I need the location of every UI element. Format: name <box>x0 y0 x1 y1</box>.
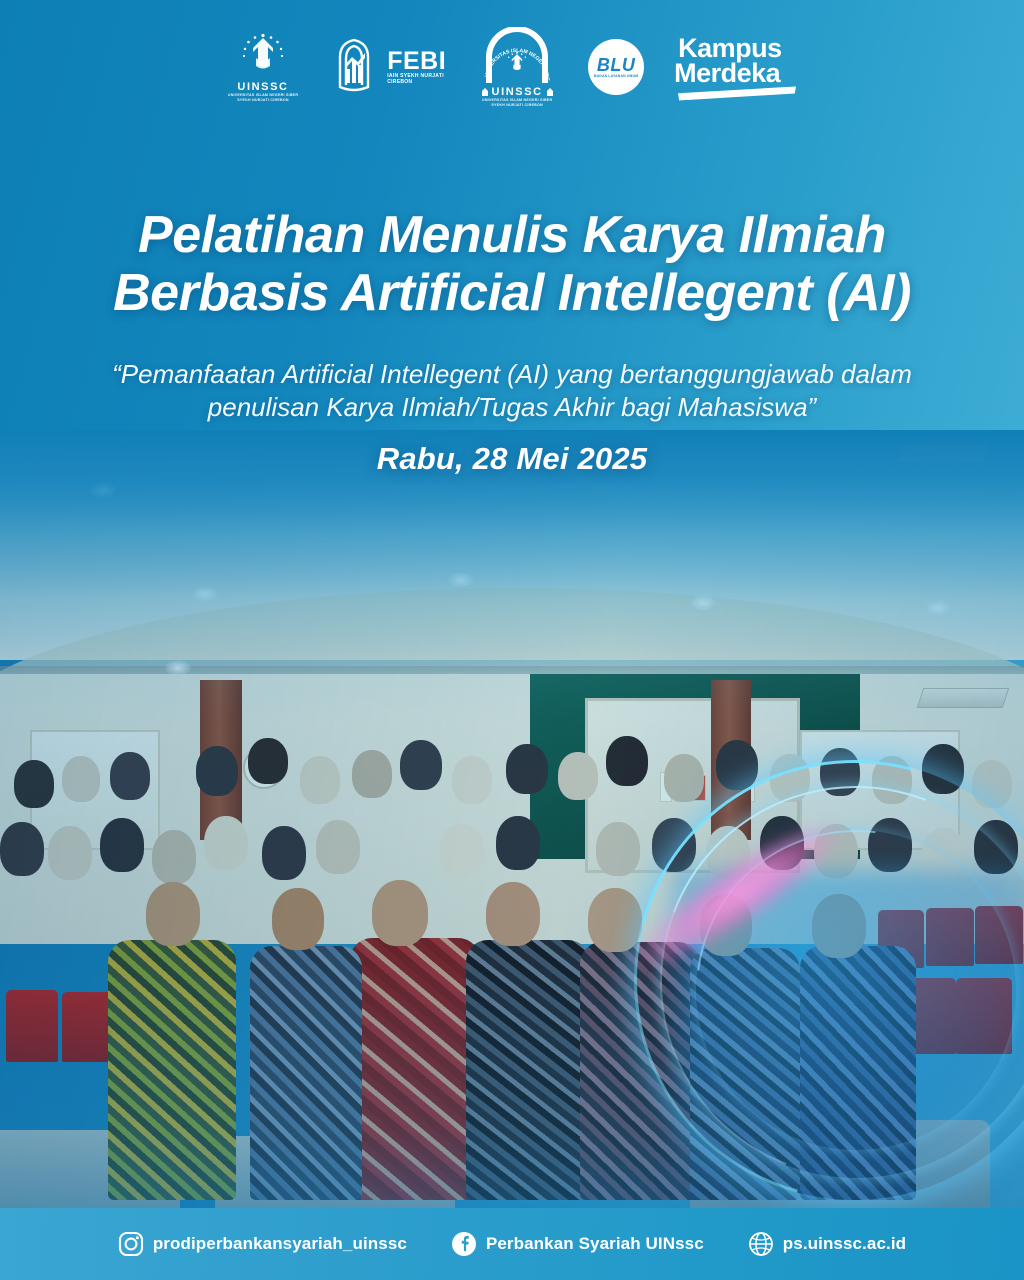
attendee-head <box>196 746 238 796</box>
title-line-1: Pelatihan Menulis Karya Ilmiah <box>0 206 1024 264</box>
footer-website-label: ps.uinssc.ac.id <box>783 1234 906 1254</box>
attendee-head <box>262 826 306 880</box>
logo-seal-subtitle-2: SYEKH NURJATI CIREBON <box>491 103 543 108</box>
attendee-body <box>350 938 480 1200</box>
attendee-head <box>606 736 648 786</box>
attendee-head <box>100 818 144 872</box>
attendee-body <box>580 942 700 1200</box>
ceiling-light-icon <box>925 600 951 616</box>
attendee-head <box>558 752 598 800</box>
subtitle-line-2: penulisan Karya Ilmiah/Tugas Akhir bagi … <box>0 391 1024 424</box>
attendee-head <box>706 826 750 880</box>
logo-uinssc-primary: UINSSC UNIVERSITAS ISLAM NEGERI SIBER SY… <box>228 32 298 102</box>
febi-text-block: FEBI IAIN SYEKH NURJATI CIREBON <box>387 49 446 85</box>
logo-bar: UINSSC UNIVERSITAS ISLAM NEGERI SIBER SY… <box>0 26 1024 108</box>
attendee-head <box>400 740 442 790</box>
attendee-head <box>62 756 100 802</box>
page-title: Pelatihan Menulis Karya Ilmiah Berbasis … <box>0 206 1024 322</box>
attendee-body <box>690 948 800 1200</box>
attendee-head <box>652 818 696 872</box>
crowd <box>0 730 1024 1090</box>
ceiling-light-icon <box>690 595 716 611</box>
attendee-head <box>664 754 704 802</box>
footer-item-facebook[interactable]: Perbankan Syariah UINssc <box>451 1231 704 1257</box>
attendee-head <box>486 882 540 946</box>
logo-febi-subtitle-2: CIREBON <box>387 79 412 85</box>
logo-uinssc-name: UINSSC <box>237 81 288 93</box>
attendee-head <box>352 750 392 798</box>
attendee-body <box>108 940 236 1200</box>
event-date: Rabu, 28 Mei 2025 <box>0 440 1024 478</box>
small-mosque-icon <box>481 88 489 96</box>
footer-facebook-label: Perbankan Syariah UINssc <box>486 1234 704 1254</box>
attendee-head <box>596 822 640 876</box>
logo-uinssc-subtitle-2: SYEKH NURJATI CIREBON <box>237 98 289 103</box>
small-mosque-icon <box>546 88 554 96</box>
logo-uinssc-seal: UNIVERSITAS ISLAM NEGERI SIBER SYEKH NUR… <box>480 27 554 107</box>
attendee-head <box>316 820 360 874</box>
ceiling-light-icon <box>448 572 474 588</box>
attendee-head <box>204 816 248 870</box>
attendee-head <box>588 888 642 952</box>
kampus-merdeka-line2: Merdeka <box>674 61 780 86</box>
page-subtitle: “Pemanfaatan Artificial Intellegent (AI)… <box>0 358 1024 424</box>
attendee-head <box>974 820 1018 874</box>
title-line-2: Berbasis Artificial Intellegent (AI) <box>0 264 1024 322</box>
footer-item-website[interactable]: ps.uinssc.ac.id <box>748 1231 906 1257</box>
attendee-head <box>452 756 492 804</box>
event-poster: UINSSC UNIVERSITAS ISLAM NEGERI SIBER SY… <box>0 0 1024 1280</box>
air-conditioner-icon <box>917 688 1009 708</box>
logo-febi: FEBI IAIN SYEKH NURJATI CIREBON <box>332 35 446 100</box>
logo-blu-subtitle: BADAN LAYANAN UMUM <box>594 74 638 78</box>
footer-instagram-label: prodiperbankansyariah_uinssc <box>153 1234 407 1254</box>
logo-blu-name: BLU <box>597 57 636 74</box>
attendee-head <box>716 740 758 790</box>
subtitle-line-1: “Pemanfaatan Artificial Intellegent (AI)… <box>0 358 1024 391</box>
uinssc-seal-icon: UNIVERSITAS ISLAM NEGERI SIBER SYEKH NUR… <box>480 27 554 85</box>
attendee-body <box>466 940 590 1200</box>
attendee-head <box>972 760 1012 808</box>
attendee-head <box>14 760 54 808</box>
attendee-head <box>812 894 866 958</box>
attendee-head <box>868 818 912 872</box>
logo-seal-name: UINSSC <box>492 86 543 98</box>
attendee-body <box>800 946 916 1200</box>
attendee-head <box>872 756 912 804</box>
logo-febi-name: FEBI <box>387 49 446 73</box>
ceiling-light-icon <box>192 586 218 602</box>
attendee-head <box>700 894 752 956</box>
attendee-head <box>922 744 964 794</box>
blu-logo-icon: BLU BADAN LAYANAN UMUM <box>588 39 644 95</box>
attendee-head <box>770 754 810 802</box>
footer-item-instagram[interactable]: prodiperbankansyariah_uinssc <box>118 1231 407 1257</box>
febi-logo-icon <box>332 35 382 100</box>
attendee-head <box>152 830 196 884</box>
logo-blu: BLU BADAN LAYANAN UMUM <box>588 39 644 95</box>
logo-kampus-merdeka: Kampus Merdeka <box>678 36 796 98</box>
event-date-text: Rabu, 28 Mei 2025 <box>0 440 1024 478</box>
attendee-head <box>300 756 340 804</box>
group-photo <box>0 430 1024 1280</box>
attendee-head <box>506 744 548 794</box>
attendee-head <box>760 816 804 870</box>
attendee-head <box>922 828 966 882</box>
attendee-head <box>272 888 324 950</box>
attendee-head <box>110 752 150 800</box>
attendee-head <box>820 748 860 796</box>
attendee-head <box>146 882 200 946</box>
uinssc-logo-icon <box>240 32 286 78</box>
attendee-head <box>0 822 44 876</box>
attendee-head <box>496 816 540 870</box>
facebook-icon[interactable] <box>451 1231 477 1257</box>
instagram-icon[interactable] <box>118 1231 144 1257</box>
attendee-body <box>250 946 362 1200</box>
kampus-merdeka-underline <box>678 86 796 100</box>
attendee-head <box>440 824 484 878</box>
attendee-head <box>248 738 288 784</box>
attendee-head <box>814 824 858 878</box>
globe-icon[interactable] <box>748 1231 774 1257</box>
attendee-head <box>48 826 92 880</box>
attendee-head <box>372 880 428 946</box>
footer-bar: prodiperbankansyariah_uinssc Perbankan S… <box>0 1208 1024 1280</box>
ceiling-light-icon <box>90 482 116 498</box>
